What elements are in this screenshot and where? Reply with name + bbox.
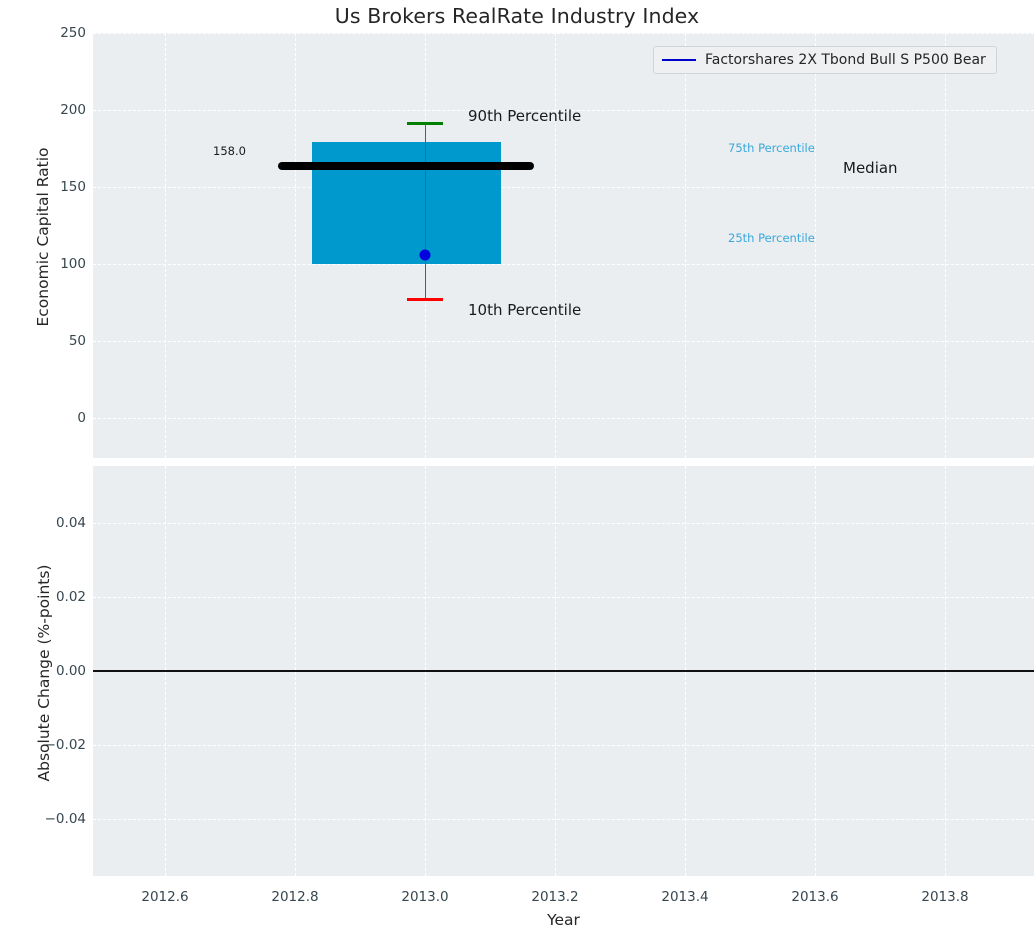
xtick-2012.6: 2012.6 [141,889,188,905]
median-line [278,162,534,170]
panel-absolute-change [93,466,1034,876]
median-value-label: 158.0 [213,144,246,158]
chart-legend[interactable]: Factorshares 2X Tbond Bull S P500 Bear [653,46,997,74]
xtick-2013.4: 2013.4 [661,889,708,905]
xtick-2013.8: 2013.8 [921,889,968,905]
annotation-p75: 75th Percentile [728,141,815,155]
gridline-y-250 [93,33,1034,34]
p90-cap [407,122,443,125]
gridline-y-100 [93,264,1034,265]
gridline-x-2013.2 [555,33,556,458]
xtick-2013.6: 2013.6 [791,889,838,905]
ytick-top-250: 250 [0,25,86,41]
value-point-marker[interactable] [420,250,431,261]
ylabel-economic-capital-ratio: Economic Capital Ratio [34,112,52,362]
gridline-x-2012.8 [295,33,296,458]
xlabel-year: Year [93,911,1034,929]
ylabel-absolute-change: Absolute Change (%-points) [35,513,53,833]
xtick-2013.2: 2013.2 [531,889,578,905]
ytick-top-0: 0 [0,410,86,426]
gridline-x-2013.8 [945,33,946,458]
panel-economic-capital-ratio: 158.0 90th Percentile 10th Percentile 75… [93,33,1034,458]
zero-reference-line [93,670,1034,672]
annotation-p25: 25th Percentile [728,231,815,245]
gridline-y-0 [93,418,1034,419]
gridline-x-2012.6 [165,33,166,458]
p10-cap [407,298,443,301]
gridline-x-2013.4 [685,33,686,458]
gridline-y-0.02 [93,597,1034,598]
interquartile-bar[interactable] [312,142,501,264]
xtick-2012.8: 2012.8 [271,889,318,905]
xtick-2013.0: 2013.0 [401,889,448,905]
gridline-y-150 [93,187,1034,188]
gridline-x-2013.6 [815,33,816,458]
gridline-y--0.02 [93,745,1034,746]
legend-entry-label: Factorshares 2X Tbond Bull S P500 Bear [705,52,986,68]
gridline-y--0.04 [93,819,1034,820]
whisker-line [425,123,427,300]
legend-line-swatch-icon [662,59,696,61]
annotation-p90: 90th Percentile [468,107,581,125]
chart-title: Us Brokers RealRate Industry Index [0,4,1034,28]
gridline-y-0.04 [93,523,1034,524]
chart-figure: Us Brokers RealRate Industry Index 158.0… [0,0,1034,942]
gridline-y-50 [93,341,1034,342]
annotation-p10: 10th Percentile [468,301,581,319]
annotation-median: Median [843,159,898,177]
